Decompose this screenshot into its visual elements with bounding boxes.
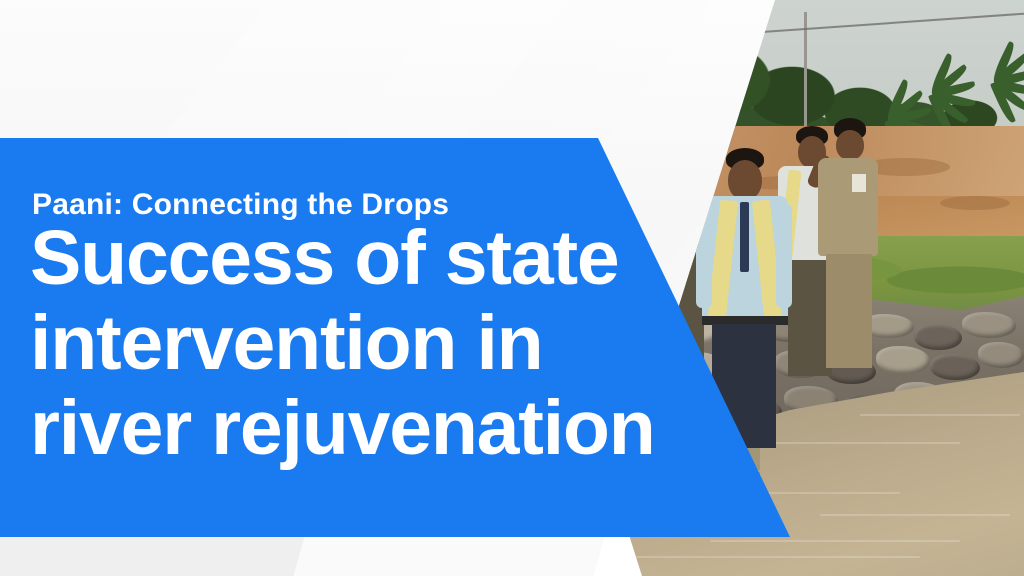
rock — [914, 324, 962, 350]
rock — [978, 342, 1024, 368]
rock — [876, 346, 930, 374]
headline-line-1: Success of state — [30, 216, 730, 301]
water-ripple — [820, 514, 1010, 516]
rock — [930, 354, 980, 380]
banner-stage: Paani: Connecting the Drops Success of s… — [0, 0, 1024, 576]
water-ripple — [710, 540, 960, 542]
water-ripple — [620, 556, 920, 558]
headline-line-3: river rejuvenation — [30, 386, 730, 471]
headline-line-2: intervention in — [30, 301, 730, 386]
page-title: Success of state intervention in river r… — [30, 216, 730, 471]
dirt-patch — [940, 196, 1010, 210]
rock — [962, 312, 1016, 338]
water-ripple — [860, 414, 1020, 416]
palm-tree-icon — [952, 48, 1024, 118]
person — [818, 118, 882, 368]
